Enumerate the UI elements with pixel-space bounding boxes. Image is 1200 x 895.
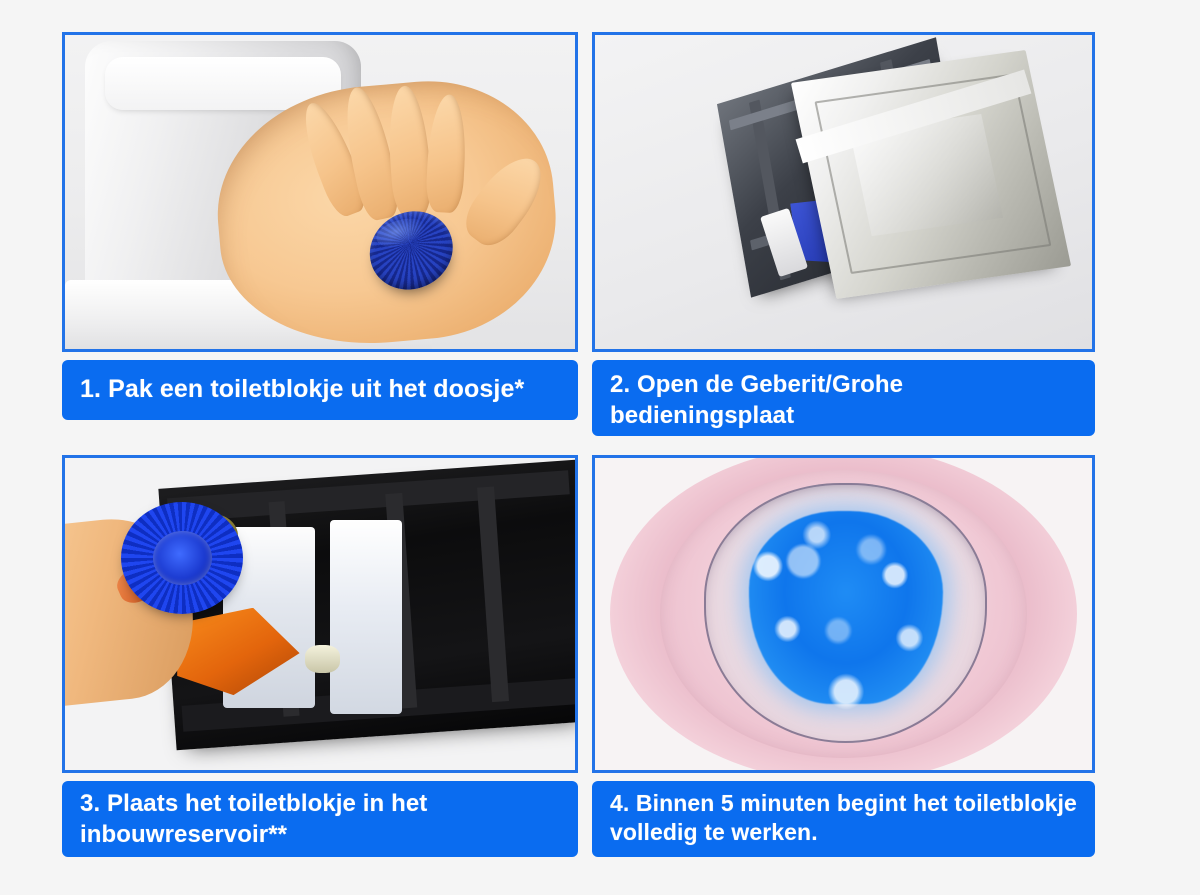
step-panel-4: 4. Binnen 5 minuten begint het toiletblo… — [592, 455, 1095, 857]
step-2-caption-line-2: bedieningsplaat — [610, 401, 903, 432]
step-3-caption-line-2: inbouwreservoir** — [80, 820, 427, 851]
step-2-photo — [592, 32, 1095, 352]
tank-rail — [477, 486, 509, 702]
step-4-caption-line-2: volledig te werken. — [610, 818, 1077, 847]
step-panel-3: 3. Plaats het toiletblokje in het inbouw… — [62, 455, 578, 857]
inner-tank-shape — [330, 520, 401, 713]
step-3-caption: 3. Plaats het toiletblokje in het inbouw… — [62, 781, 578, 857]
step-4-caption: 4. Binnen 5 minuten begint het toiletblo… — [592, 781, 1095, 857]
step-2-caption: 2. Open de Geberit/Grohe bedieningsplaat — [592, 360, 1095, 436]
blue-water-shape — [749, 511, 943, 704]
step-1-photo — [62, 32, 578, 352]
step-panel-2: 2. Open de Geberit/Grohe bedieningsplaat — [592, 32, 1095, 436]
thumb-shape — [455, 147, 554, 256]
step-panel-1: 1. Pak een toiletblokje uit het doosje* — [62, 32, 578, 420]
photo-placing-block-in-cistern — [65, 458, 575, 770]
photo-toilet-bowl-blue-water — [595, 458, 1092, 770]
step-3-caption-line-1: 3. Plaats het toiletblokje in het — [80, 789, 427, 820]
finger-shape — [425, 94, 468, 214]
step-1-caption: 1. Pak een toiletblokje uit het doosje* — [62, 360, 578, 420]
knob-shape — [305, 645, 341, 673]
instruction-board: 1. Pak een toiletblokje uit het doosje* — [0, 0, 1200, 895]
step-3-photo — [62, 455, 578, 773]
photo-open-flush-plate — [595, 35, 1092, 349]
step-2-caption-line-1: 2. Open de Geberit/Grohe — [610, 370, 903, 401]
step-4-photo — [592, 455, 1095, 773]
toilet-block-disc-shape — [121, 502, 243, 614]
photo-hand-with-toilet-block — [65, 35, 575, 349]
step-1-caption-text: 1. Pak een toiletblokje uit het doosje* — [80, 373, 524, 405]
step-4-caption-line-1: 4. Binnen 5 minuten begint het toiletblo… — [610, 789, 1077, 818]
tank-rail — [167, 470, 569, 522]
